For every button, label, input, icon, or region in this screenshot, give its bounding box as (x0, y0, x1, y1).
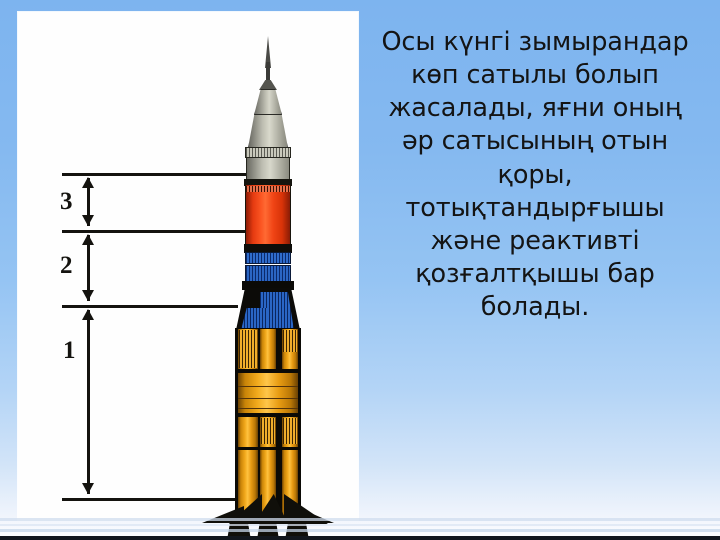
arrow-up-icon-stage-1 (82, 309, 94, 320)
footer-band-1 (0, 518, 720, 521)
body-text-line-2: көп сатылы болып (362, 59, 708, 92)
slide-canvas: 3 2 1 (0, 0, 720, 540)
footer-band-2 (0, 524, 720, 526)
stage-1-hatch-detail-b (283, 330, 297, 352)
stage-1-hatch-detail-d (283, 418, 297, 444)
arrow-down-icon-stage-3 (82, 215, 94, 226)
body-text-line-5: қоры, (362, 159, 708, 192)
rocket-illustration (198, 36, 338, 506)
stage-1-hatch-detail-a (239, 330, 257, 368)
slide-body-text: Осы күнгі зымырандар көп сатылы болып жа… (362, 26, 708, 324)
dimension-label-stage-2: 2 (60, 253, 73, 278)
footer-band-3 (0, 529, 720, 532)
capsule-body (248, 114, 288, 148)
arrow-down-icon-stage-1 (82, 483, 94, 494)
stage-1-band-line-2 (238, 398, 298, 399)
dimension-bar-stage-1 (87, 310, 90, 494)
escape-tower-base (259, 80, 277, 90)
body-text-line-6: тотықтандырғышы (362, 192, 708, 225)
footer-dark-rule (0, 536, 720, 540)
body-text-line-9: болады. (362, 291, 708, 324)
stage-2-lower-band (245, 265, 291, 282)
capsule-nose-cone (254, 89, 282, 115)
body-text-line-4: әр сатысының отын (362, 125, 708, 158)
stage-1-hatch-detail-c (261, 418, 275, 444)
body-text-line-8: қозғалтқышы бар (362, 258, 708, 291)
stage-1-band-line-1 (238, 386, 298, 387)
stage-1-booster-left-seg-3 (238, 417, 258, 447)
dimension-label-stage-1: 1 (63, 338, 76, 363)
service-module (246, 157, 290, 181)
body-text-line-1: Осы күнгі зымырандар (362, 26, 708, 59)
arrow-up-icon-stage-3 (82, 177, 94, 188)
body-text-line-7: және реактивті (362, 225, 708, 258)
stage-3-hatch-detail (246, 186, 290, 192)
stage-2-upper-band (245, 252, 291, 264)
stage-1-booster-center-seg-1 (260, 329, 276, 369)
arrow-up-icon-stage-2 (82, 234, 94, 245)
rocket-illustration-panel: 3 2 1 (18, 12, 358, 520)
arrow-down-icon-stage-2 (82, 290, 94, 301)
body-text-line-3: жасалады, яғни оның (362, 92, 708, 125)
stage-3-body (245, 185, 291, 246)
stage-1-band-line-3 (238, 408, 298, 409)
dimension-label-stage-3: 3 (60, 189, 73, 214)
